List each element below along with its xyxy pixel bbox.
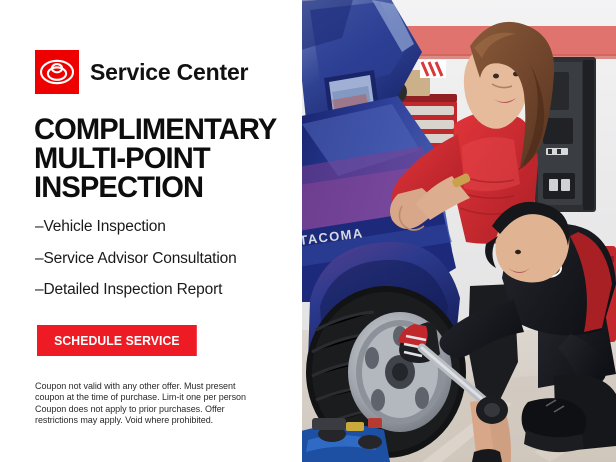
brand-name: Service Center bbox=[90, 61, 248, 84]
offer-panel: Service Center COMPLIMENTARY MULTI-POINT… bbox=[0, 0, 302, 462]
headline-line-2: MULTI-POINT bbox=[34, 145, 294, 174]
list-item: –Detailed Inspection Report bbox=[35, 282, 300, 298]
benefit-list: –Vehicle Inspection –Service Advisor Con… bbox=[35, 219, 300, 314]
toyota-emblem-icon bbox=[35, 50, 79, 94]
disclaimer-text: Coupon not valid with any other offer. M… bbox=[35, 381, 253, 427]
brand-lockup: Service Center bbox=[35, 50, 248, 94]
page-title: COMPLIMENTARY MULTI-POINT INSPECTION bbox=[34, 116, 294, 202]
coupon-ad: Service Center COMPLIMENTARY MULTI-POINT… bbox=[0, 0, 616, 462]
list-item: –Vehicle Inspection bbox=[35, 219, 300, 235]
list-item: –Service Advisor Consultation bbox=[35, 251, 300, 267]
headline-line-3: INSPECTION bbox=[34, 174, 294, 203]
schedule-service-button[interactable]: SCHEDULE SERVICE bbox=[37, 325, 197, 356]
headline-line-1: COMPLIMENTARY bbox=[34, 116, 294, 145]
service-bay-photo: TACOMA bbox=[302, 0, 616, 462]
